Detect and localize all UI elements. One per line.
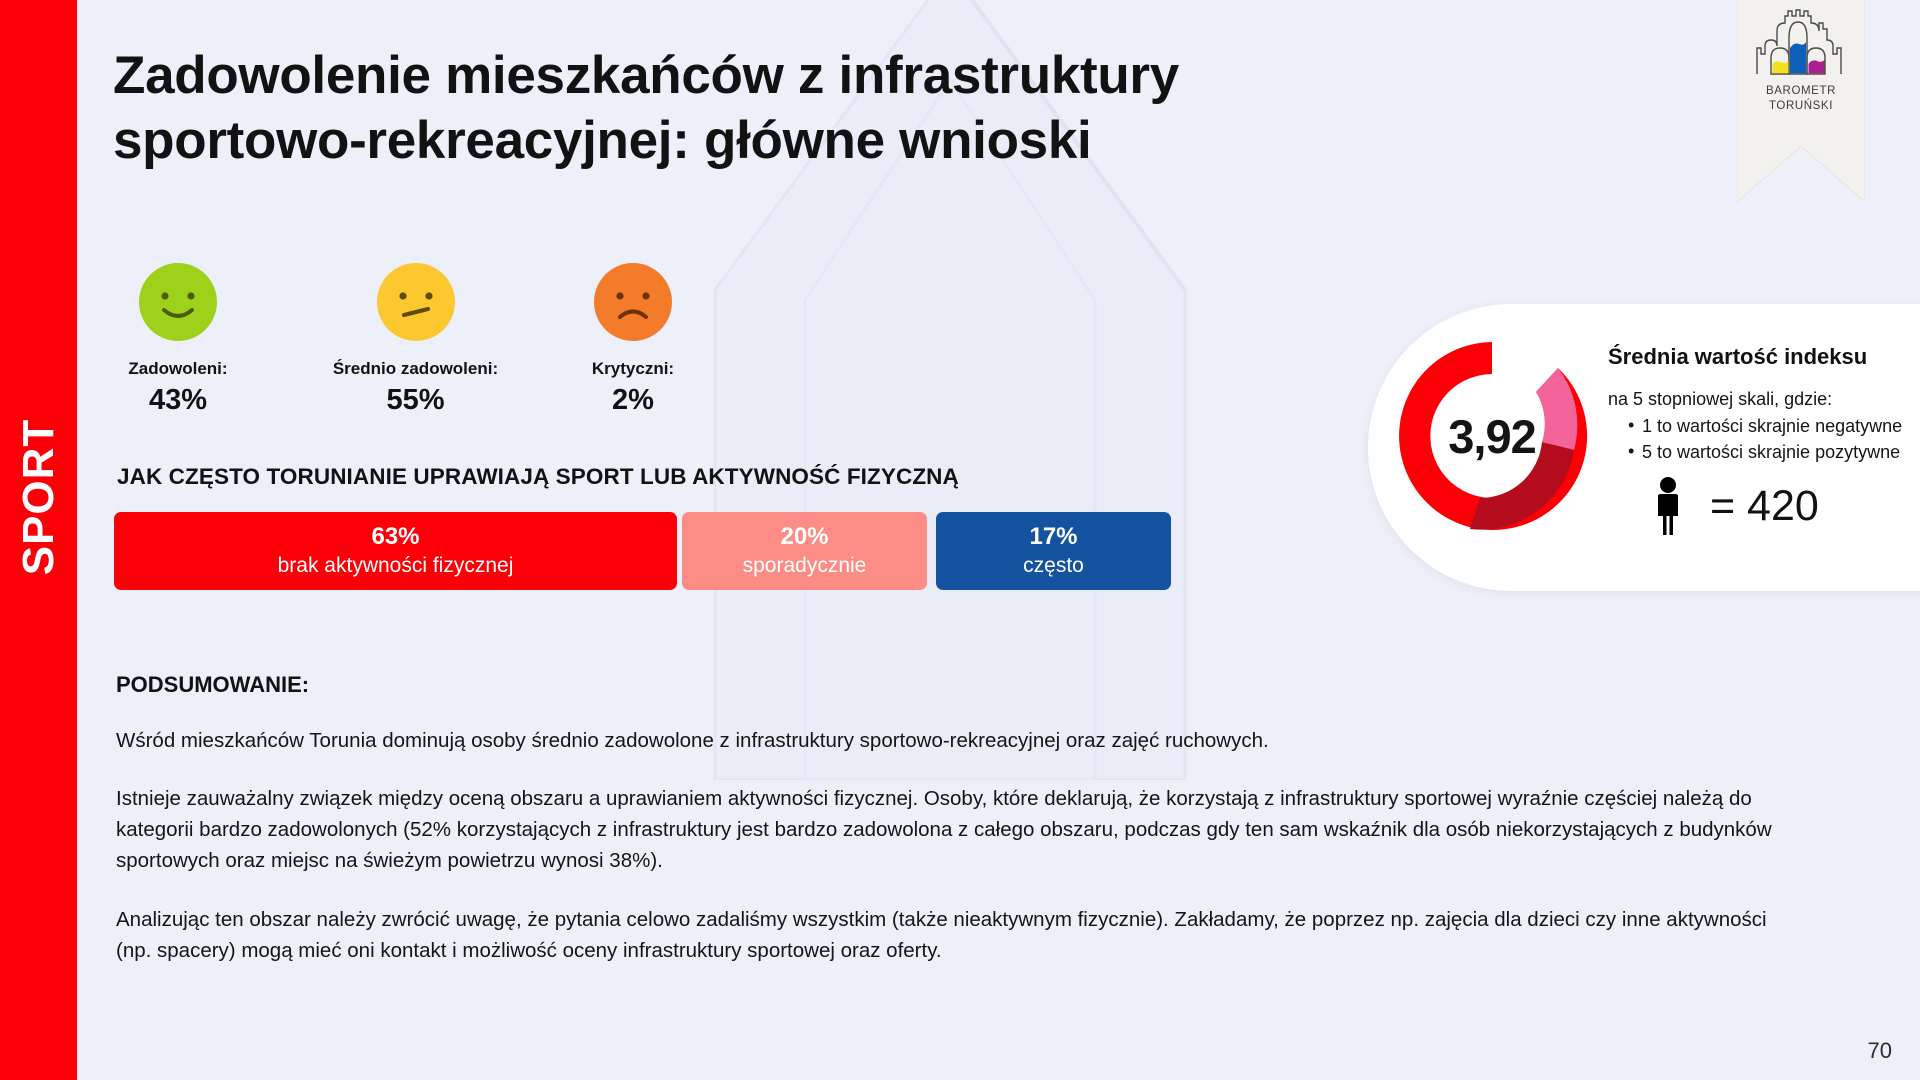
bar-segment-label: często [1023,554,1084,578]
activity-chart-title: JAK CZĘSTO TORUNIANIE UPRAWIAJĄ SPORT LU… [117,464,959,490]
summary-body: Wśród mieszkańców Torunia dominują osoby… [116,725,1806,993]
satisfaction-item-neutral: Średnio zadowoleni: 55% [328,262,503,417]
bar-segment-none: 63% brak aktywności fizycznej [114,512,677,590]
person-icon [1648,476,1688,536]
index-card-title: Średnia wartość indeksu [1608,344,1867,370]
page-title: Zadowolenie mieszkańców z infrastruktury… [113,44,1443,173]
ribbon-line1: BAROMETR [1766,85,1836,97]
happy-face-icon [138,262,218,342]
bar-segment-occasional: 20% sporadycznie [682,512,927,590]
index-scale-description: na 5 stopniowej skali, gdzie: 1 to warto… [1608,386,1902,465]
bar-segment-label: brak aktywności fizycznej [278,554,514,578]
bar-segment-value: 63% [371,524,419,549]
section-rail-label: SPORT [14,362,64,632]
bar-segment-label: sporadycznie [743,554,867,578]
summary-paragraph: Istnieje zauważalny związek między oceną… [116,783,1806,876]
summary-paragraph: Analizując ten obszar należy zwrócić uwa… [116,904,1806,966]
slide-root: SPORT BAROMETR TORUŃSKI Zadowolenie mies… [0,0,1920,1080]
ribbon-line2: TORUŃSKI [1769,99,1833,112]
satisfaction-label: Krytyczni: [568,359,698,379]
respondents-pictogram: = 420 [1648,476,1819,536]
satisfaction-value: 55% [328,384,503,417]
index-ring-value: 3,92 [1386,330,1598,542]
satisfaction-label: Zadowoleni: [113,359,243,379]
satisfaction-value: 2% [568,384,698,417]
bar-segment-value: 17% [1029,524,1077,549]
satisfaction-label: Średnio zadowoleni: [328,359,503,379]
respondents-count: = 420 [1710,482,1819,531]
summary-heading: PODSUMOWANIE: [116,672,309,698]
bar-segment-frequent: 17% często [936,512,1171,590]
bar-segment-value: 20% [780,524,828,549]
sad-face-icon [593,262,673,342]
satisfaction-item-critical: Krytyczni: 2% [568,262,698,417]
index-scale-intro: na 5 stopniowej skali, gdzie: [1608,386,1902,412]
barometr-torunski-ribbon-logo: BAROMETR TORUŃSKI [1737,0,1865,202]
summary-paragraph: Wśród mieszkańców Torunia dominują osoby… [116,725,1806,756]
activity-stacked-bar: 63% brak aktywności fizycznej 20% sporad… [114,512,1179,590]
section-rail: SPORT [0,0,77,1080]
satisfaction-item-satisfied: Zadowoleni: 43% [113,262,243,417]
satisfaction-value: 43% [113,384,243,417]
index-card: 3,92 Średnia wartość indeksu na 5 stopni… [1368,304,1920,591]
neutral-face-icon [376,262,456,342]
page-number: 70 [1868,1038,1892,1064]
index-scale-point: 1 to wartości skrajnie negatywne [1628,413,1902,439]
index-scale-point: 5 to wartości skrajnie pozytywne [1628,439,1902,465]
satisfaction-summary: Zadowoleni: 43% Średnio zadowoleni: 55% … [113,262,813,442]
